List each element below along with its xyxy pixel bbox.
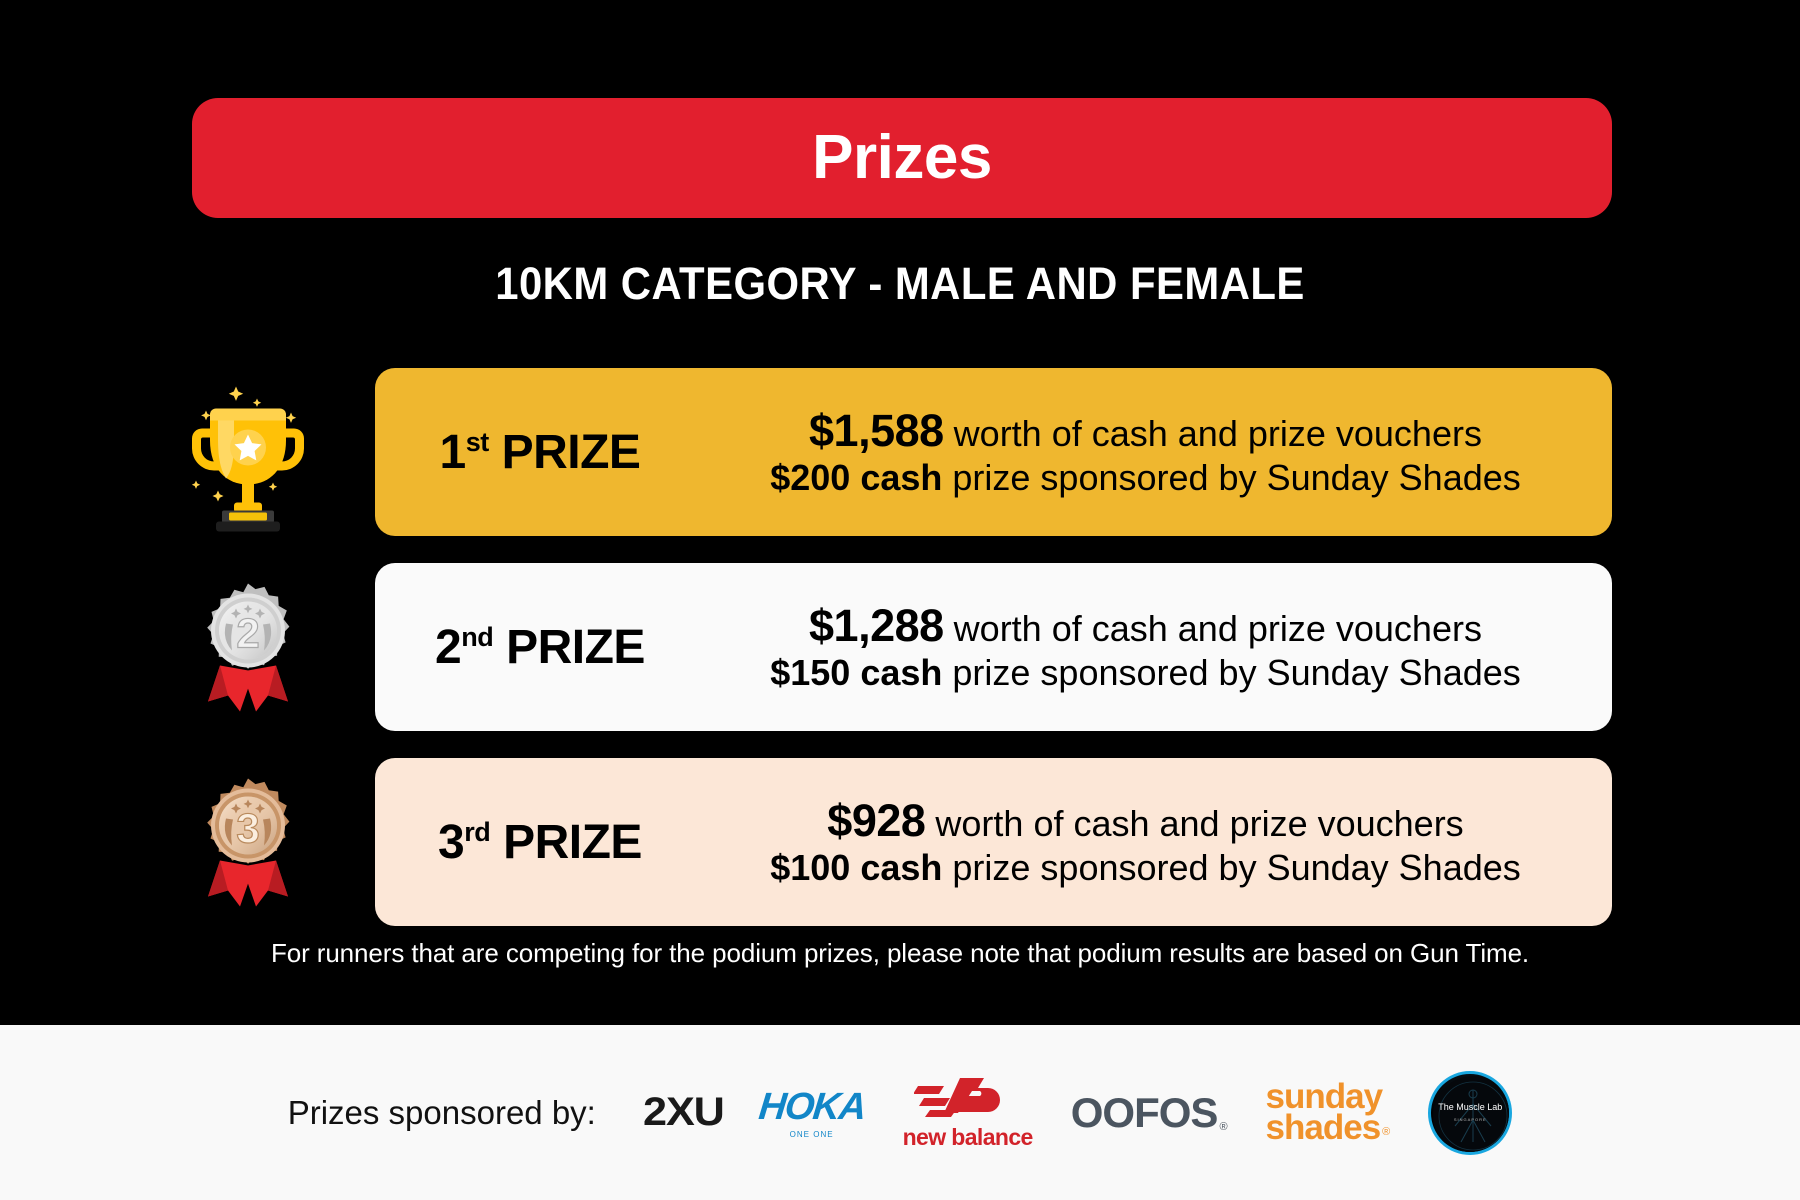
prize-amount-desc: worth of cash and prize vouchers bbox=[944, 608, 1482, 649]
prize-amount: $1,588 bbox=[809, 405, 944, 456]
sponsored-by-label: Prizes sponsored by: bbox=[288, 1094, 596, 1132]
prize-cash-desc: prize sponsored by Sunday Shades bbox=[942, 652, 1520, 693]
registered-mark-icon: ® bbox=[1382, 1128, 1390, 1137]
prize-cash-amount: $150 cash bbox=[770, 652, 942, 693]
prize-amount: $928 bbox=[827, 795, 925, 846]
sponsor-logo-oofos: OOFOS ® bbox=[1071, 1089, 1228, 1137]
prize-amount-desc: worth of cash and prize vouchers bbox=[944, 413, 1482, 454]
prize-cash-amount: $100 cash bbox=[770, 847, 942, 888]
sponsor-shades-text: shades bbox=[1266, 1113, 1381, 1143]
category-subtitle: 10KM CATEGORY - MALE AND FEMALE bbox=[63, 258, 1737, 310]
sponsor-hoka-subtext: ONE ONE bbox=[790, 1130, 834, 1139]
prize-rank-label: 3rd PRIZE bbox=[375, 815, 705, 870]
sponsor-logo-the-muscle-lab: The Muscle Lab SINGAPORE bbox=[1428, 1071, 1512, 1155]
new-balance-mark-icon bbox=[914, 1074, 1022, 1122]
bronze-medal-icon: 3 bbox=[178, 760, 318, 925]
sponsor-logo-2xu: 2XU bbox=[646, 1090, 721, 1135]
sponsor-logo-new-balance: new balance bbox=[903, 1074, 1033, 1151]
sponsor-2xu-text: 2XU bbox=[643, 1090, 724, 1135]
prize-detail: $1,288 worth of cash and prize vouchers … bbox=[705, 599, 1612, 695]
prize-row: 2 2nd PRIZE $1,288 worth of cash and pri… bbox=[0, 563, 1800, 731]
prize-row: 3 3rd PRIZE $928 worth of cash and prize… bbox=[0, 758, 1800, 926]
silver-medal-icon: 2 bbox=[178, 565, 318, 730]
prize-amount: $1,288 bbox=[809, 600, 944, 651]
registered-mark-icon: ® bbox=[1219, 1121, 1227, 1133]
prizes-banner: Prizes bbox=[192, 98, 1612, 218]
prize-amount-desc: worth of cash and prize vouchers bbox=[925, 803, 1463, 844]
prize-rank-label: 2nd PRIZE bbox=[375, 620, 705, 675]
prize-list: 1st PRIZE $1,588 worth of cash and prize… bbox=[0, 368, 1800, 953]
prize-detail: $928 worth of cash and prize vouchers $1… bbox=[705, 794, 1612, 890]
gold-trophy-icon bbox=[178, 370, 318, 535]
sponsor-oofos-text: OOFOS bbox=[1071, 1089, 1218, 1137]
prize-card: 3rd PRIZE $928 worth of cash and prize v… bbox=[375, 758, 1612, 926]
prize-card: 2nd PRIZE $1,288 worth of cash and prize… bbox=[375, 563, 1612, 731]
gun-time-disclaimer: For runners that are competing for the p… bbox=[0, 938, 1800, 969]
prizes-poster: Prizes 10KM CATEGORY - MALE AND FEMALE bbox=[0, 0, 1800, 1200]
prize-card: 1st PRIZE $1,588 worth of cash and prize… bbox=[375, 368, 1612, 536]
page-title: Prizes bbox=[812, 127, 992, 189]
prize-rank-label: 1st PRIZE bbox=[375, 425, 705, 480]
sponsor-logo-hoka: HOKA ONE ONE bbox=[759, 1086, 865, 1139]
muscle-lab-text: The Muscle Lab SINGAPORE bbox=[1438, 1102, 1502, 1124]
muscle-lab-badge-icon: The Muscle Lab SINGAPORE bbox=[1428, 1071, 1512, 1155]
sponsor-logo-sunday-shades: sunday shades ® bbox=[1266, 1082, 1391, 1142]
prize-detail: $1,588 worth of cash and prize vouchers … bbox=[705, 404, 1612, 500]
prize-cash-desc: prize sponsored by Sunday Shades bbox=[942, 457, 1520, 498]
svg-text:3: 3 bbox=[236, 804, 259, 851]
prize-cash-desc: prize sponsored by Sunday Shades bbox=[942, 847, 1520, 888]
sponsor-hoka-text: HOKA bbox=[756, 1086, 866, 1129]
svg-text:2: 2 bbox=[236, 609, 259, 656]
prize-cash-amount: $200 cash bbox=[770, 457, 942, 498]
sponsors-footer: Prizes sponsored by: 2XU HOKA ONE ONE bbox=[0, 1025, 1800, 1200]
sponsor-new-balance-text: new balance bbox=[903, 1124, 1033, 1151]
prize-row: 1st PRIZE $1,588 worth of cash and prize… bbox=[0, 368, 1800, 536]
